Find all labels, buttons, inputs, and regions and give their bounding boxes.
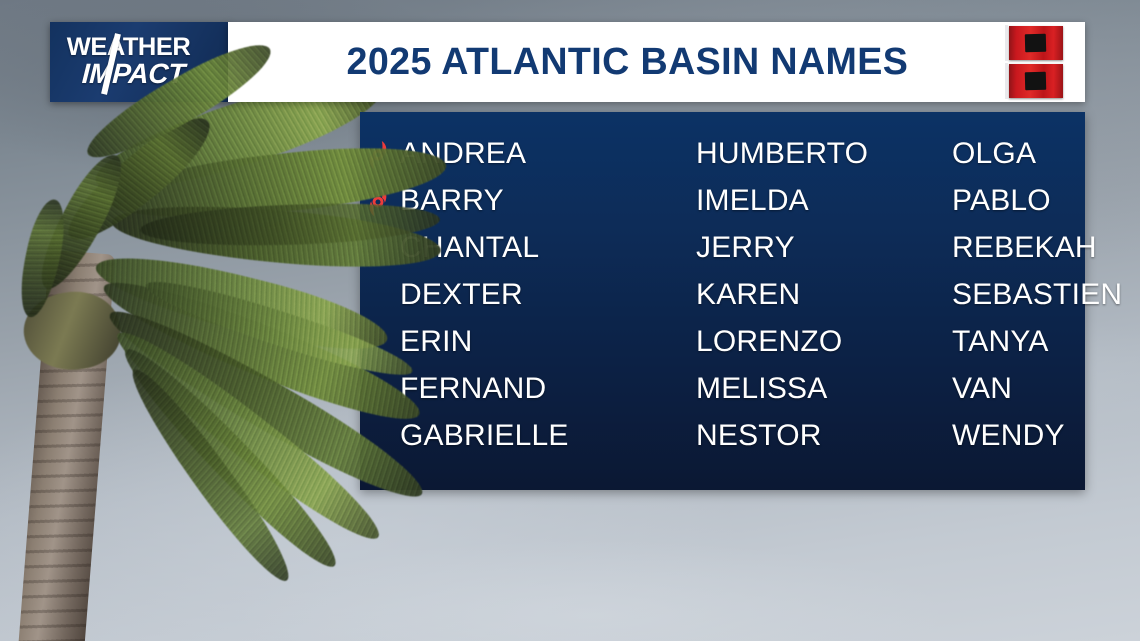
storm-name-label: REBEKAH	[952, 233, 1097, 263]
storm-name-row: WENDY	[914, 412, 1122, 459]
logo-line1: WEATHER	[67, 35, 190, 60]
storm-name-row: HUMBERTO	[658, 130, 906, 177]
storm-name-row: ERIN	[362, 318, 646, 365]
storm-name-row: JERRY	[658, 224, 906, 271]
storm-name-label: MELISSA	[696, 374, 827, 404]
hurricane-warning-flags-icon	[1005, 24, 1067, 100]
storm-name-label: DEXTER	[400, 280, 523, 310]
names-column-3: OLGAPABLOREBEKAHSEBASTIENTANYAVANWENDY	[906, 130, 1122, 472]
storm-names-panel: ANDREABARRYCHANTALDEXTERERINFERNANDGABRI…	[360, 112, 1085, 490]
storm-name-row: OLGA	[914, 130, 1122, 177]
warning-flag-bottom	[1009, 64, 1063, 98]
flag-black-square-top	[1025, 34, 1046, 53]
storm-name-row: IMELDA	[658, 177, 906, 224]
storm-name-label: JERRY	[696, 233, 795, 263]
flag-pole-bottom	[1005, 63, 1008, 99]
storm-name-row: KAREN	[658, 271, 906, 318]
flag-pole-top	[1005, 25, 1008, 61]
weather-graphic: WEATHER IMPACT 2025 ATLANTIC BASIN NAMES…	[0, 0, 1140, 641]
storm-name-label: HUMBERTO	[696, 139, 868, 169]
storm-name-label: NESTOR	[696, 421, 822, 451]
storm-name-label: FERNAND	[400, 374, 546, 404]
storm-name-row: LORENZO	[658, 318, 906, 365]
warning-flag-top	[1009, 26, 1063, 60]
storm-name-label: VAN	[952, 374, 1012, 404]
storm-name-label: SEBASTIEN	[952, 280, 1122, 310]
storm-name-row: TANYA	[914, 318, 1122, 365]
names-column-2: HUMBERTOIMELDAJERRYKARENLORENZOMELISSANE…	[646, 130, 906, 472]
storm-name-row: MELISSA	[658, 365, 906, 412]
storm-name-label: ERIN	[400, 327, 472, 357]
storm-name-label: LORENZO	[696, 327, 842, 357]
storm-name-row: REBEKAH	[914, 224, 1122, 271]
storm-name-label: IMELDA	[696, 186, 809, 216]
storm-name-label: TANYA	[952, 327, 1049, 357]
storm-name-row: NESTOR	[658, 412, 906, 459]
storm-name-row: SEBASTIEN	[914, 271, 1122, 318]
storm-name-label: KAREN	[696, 280, 800, 310]
storm-name-label: GABRIELLE	[400, 421, 569, 451]
title-bar: 2025 ATLANTIC BASIN NAMES	[228, 22, 1085, 102]
storm-name-label: OLGA	[952, 139, 1036, 169]
page-title: 2025 ATLANTIC BASIN NAMES	[232, 41, 1001, 84]
flag-black-square-bottom	[1025, 72, 1046, 91]
storm-name-row: PABLO	[914, 177, 1122, 224]
storm-name-row: DEXTER	[362, 271, 646, 318]
storm-name-label: WENDY	[952, 421, 1065, 451]
storm-name-label: PABLO	[952, 186, 1051, 216]
storm-name-row: VAN	[914, 365, 1122, 412]
